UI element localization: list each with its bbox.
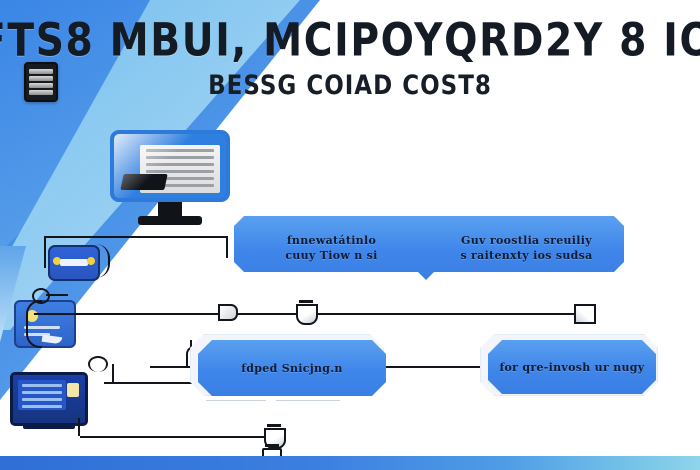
server-rack-slot: [29, 90, 53, 95]
server-rack-slot: [29, 76, 53, 81]
decorative-rule: [206, 400, 266, 401]
banner-callout[interactable]: fnnewatátinlo cuuy Tiow n si Guv roostli…: [234, 216, 624, 280]
router-device-icon: [14, 300, 76, 348]
box-process-right[interactable]: for qre-invosh ur nugy: [488, 340, 656, 394]
node-cup-icon: [296, 304, 318, 325]
monitor-base: [138, 216, 202, 225]
connector-bus-bottom: [80, 436, 270, 438]
connector-ring: [32, 288, 50, 304]
chassis-line: [22, 384, 62, 387]
connector-drop: [112, 364, 114, 382]
screen-glare: [114, 134, 230, 202]
footer-accent-bar: [0, 456, 700, 470]
box-process-left-label: fdped Snicjng.n: [241, 361, 342, 376]
box-process-left[interactable]: fdped Snicjng.n: [198, 340, 386, 396]
node-quad-icon: [574, 304, 596, 324]
banner-left-cell: fnnewatátinlo cuuy Tiow n si: [234, 233, 429, 263]
server-chassis-icon: [10, 372, 88, 426]
banner-left-line1: fnnewatátinlo: [248, 233, 415, 248]
chassis-panel: [18, 380, 66, 410]
banner-right-line1: Guv roostlia sreuiliy: [443, 233, 610, 248]
node-flag-icon: [218, 304, 238, 321]
connector-bracket: [44, 236, 72, 268]
chassis-line: [22, 398, 62, 401]
connector-line-drop: [226, 236, 228, 258]
connector-stub: [46, 294, 68, 296]
connector-between-boxes: [386, 366, 490, 368]
chassis-chip: [67, 383, 79, 397]
desktop-monitor-icon: [110, 130, 230, 228]
chassis-line: [22, 405, 62, 408]
connector-bracket: [26, 300, 42, 348]
chassis-foot: [23, 423, 75, 429]
server-rack-icon: [24, 62, 58, 102]
monitor-screen: [110, 130, 230, 202]
chassis-line: [22, 391, 62, 394]
connector-line-top: [68, 236, 228, 238]
infographic-canvas: FTS8 MBUI, MCIPOYQRD2Y 8 IOPS BESSG COIA…: [0, 0, 700, 470]
decorative-rule: [276, 400, 340, 401]
server-rack-slot: [29, 83, 53, 88]
banner-right-line2: s raitenxty ios sudsa: [443, 248, 610, 263]
banner-left-line2: cuuy Tiow n si: [248, 248, 415, 263]
server-rack-slot: [29, 69, 53, 74]
connector-drop-bottom: [78, 418, 80, 436]
monitor-stand: [158, 202, 182, 216]
connector-bracket: [88, 244, 110, 278]
box-process-right-label: for qre-invosh ur nugy: [500, 360, 645, 375]
banner-right-cell: Guv roostlia sreuiliy s raitenxty ios su…: [429, 233, 624, 263]
connector-ring: [88, 356, 108, 372]
router-accent: [42, 335, 63, 345]
